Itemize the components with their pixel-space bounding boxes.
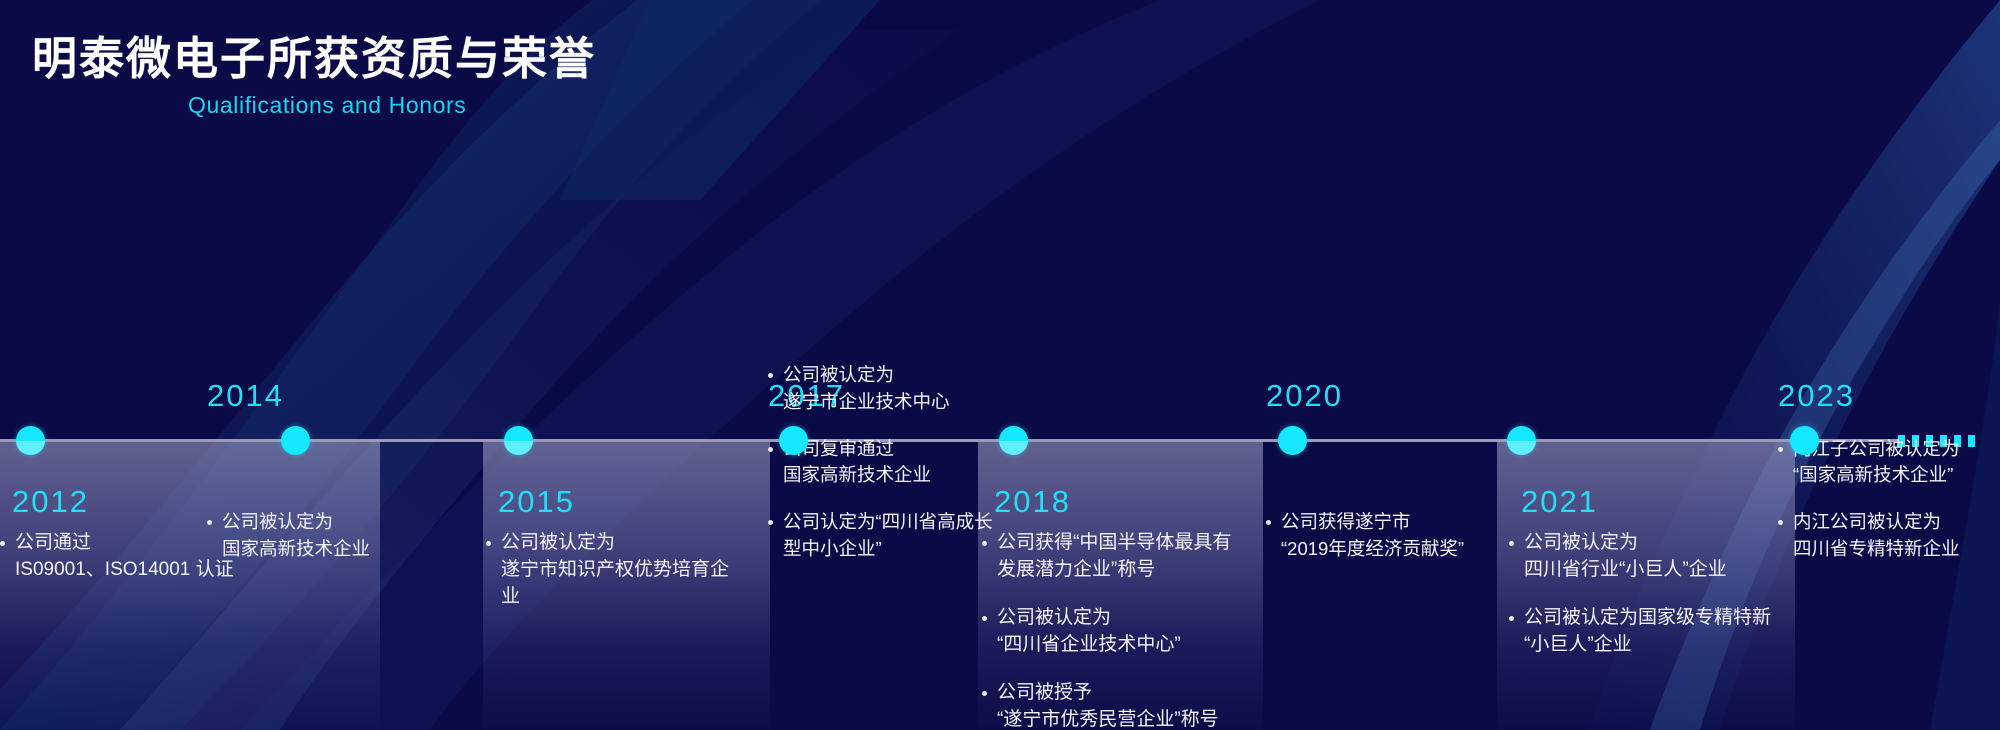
bullet-dot-icon <box>207 520 212 525</box>
slide-header: 明泰微电子所获资质与荣誉 Qualifications and Honors <box>32 34 596 119</box>
timeline-node-dot-2017[interactable] <box>779 426 808 455</box>
bullet-dot-icon <box>1509 541 1514 546</box>
timeline-items-2020: 公司获得遂宁市 “2019年度经济贡献奖” <box>1266 509 1464 562</box>
list-item: 公司认定为“四川省高成长 型中小企业” <box>768 509 993 562</box>
list-item: 内江公司被认定为 四川省专精特新企业 <box>1778 509 1960 562</box>
list-item-text: 公司被认定为 “四川省企业技术中心” <box>997 605 1181 659</box>
list-item-text: 公司通过 IS09001、ISO14001 认证 <box>15 530 234 584</box>
timeline-year-label-2012: 2012 <box>12 484 89 520</box>
axis-dash <box>1968 435 1975 447</box>
list-item-text: 公司被认定为 国家高新技术企业 <box>222 509 370 562</box>
bullet-dot-icon <box>768 373 773 378</box>
timeline-node-dot-2015[interactable] <box>504 426 533 455</box>
timeline-node-dot-2020[interactable] <box>1278 426 1307 455</box>
timeline-items-2012: 公司通过 IS09001、ISO14001 认证 <box>0 530 234 584</box>
bullet-dot-icon <box>1778 520 1783 525</box>
timeline-items-2014: 公司被认定为 国家高新技术企业 <box>207 509 370 562</box>
timeline-year-label-2023: 2023 <box>1778 378 1855 414</box>
bullet-dot-icon <box>1266 520 1271 525</box>
list-item: 公司被认定为 遂宁市企业技术中心 <box>768 362 993 415</box>
bullet-dot-icon <box>982 541 987 546</box>
bullet-dot-icon <box>982 691 987 696</box>
timeline-node-dot-2014[interactable] <box>281 426 310 455</box>
list-item: 公司被认定为 遂宁市知识产权优势培育企 业 <box>486 530 729 611</box>
bullet-dot-icon <box>982 616 987 621</box>
page-title: 明泰微电子所获资质与荣誉 <box>32 34 596 84</box>
timeline-year-label-2014: 2014 <box>207 378 284 414</box>
bullet-dot-icon <box>1778 447 1783 452</box>
list-item-text: 公司被认定为 四川省行业“小巨人”企业 <box>1524 530 1727 584</box>
bullet-dot-icon <box>768 447 773 452</box>
list-item: 公司被认定为国家级专精特新 “小巨人”企业 <box>1509 605 1771 659</box>
list-item-text: 公司被认定为国家级专精特新 “小巨人”企业 <box>1524 605 1771 659</box>
list-item: 公司被认定为 “四川省企业技术中心” <box>982 605 1231 659</box>
list-item: 公司被认定为 四川省行业“小巨人”企业 <box>1509 530 1771 584</box>
list-item: 公司通过 IS09001、ISO14001 认证 <box>0 530 234 584</box>
slide-canvas: 明泰微电子所获资质与荣誉 Qualifications and Honors 2… <box>0 0 2000 730</box>
timeline-year-label-2020: 2020 <box>1266 378 1343 414</box>
list-item: 公司被授予 “遂宁市优秀民营企业”称号 <box>982 680 1231 730</box>
timeline-items-2021: 公司被认定为 四川省行业“小巨人”企业公司被认定为国家级专精特新 “小巨人”企业 <box>1509 530 1771 659</box>
timeline-year-label-2021: 2021 <box>1521 484 1598 520</box>
page-subtitle: Qualifications and Honors <box>188 92 596 119</box>
list-item: 公司获得“中国半导体最具有 发展潜力企业”称号 <box>982 530 1231 584</box>
list-item-text: 公司获得“中国半导体最具有 发展潜力企业”称号 <box>997 530 1231 584</box>
list-item: 公司被认定为 国家高新技术企业 <box>207 509 370 562</box>
list-item-text: 内江公司被认定为 四川省专精特新企业 <box>1793 509 1960 562</box>
list-item: 公司获得遂宁市 “2019年度经济贡献奖” <box>1266 509 1464 562</box>
timeline-items-2017: 公司被认定为 遂宁市企业技术中心公司复审通过 国家高新技术企业公司认定为“四川省… <box>768 362 993 562</box>
bullet-dot-icon <box>1509 616 1514 621</box>
list-item-text: 公司被认定为 遂宁市知识产权优势培育企 业 <box>501 530 729 611</box>
list-item-text: 公司认定为“四川省高成长 型中小企业” <box>783 509 993 562</box>
bullet-dot-icon <box>0 541 5 546</box>
bullet-dot-icon <box>486 541 491 546</box>
timeline-items-2018: 公司获得“中国半导体最具有 发展潜力企业”称号公司被认定为 “四川省企业技术中心… <box>982 530 1231 730</box>
timeline-year-label-2015: 2015 <box>498 484 575 520</box>
timeline-node-dot-2023[interactable] <box>1790 426 1819 455</box>
timeline-year-label-2018: 2018 <box>994 484 1071 520</box>
timeline-node-dot-2012[interactable] <box>16 426 45 455</box>
timeline-node-dot-2021[interactable] <box>1507 426 1536 455</box>
timeline-items-2015: 公司被认定为 遂宁市知识产权优势培育企 业 <box>486 530 729 611</box>
list-item-text: 公司获得遂宁市 “2019年度经济贡献奖” <box>1281 509 1464 562</box>
list-item-text: 公司被认定为 遂宁市企业技术中心 <box>783 362 950 415</box>
bullet-dot-icon <box>768 520 773 525</box>
timeline-node-dot-2018[interactable] <box>999 426 1028 455</box>
list-item-text: 公司被授予 “遂宁市优秀民营企业”称号 <box>997 680 1219 730</box>
